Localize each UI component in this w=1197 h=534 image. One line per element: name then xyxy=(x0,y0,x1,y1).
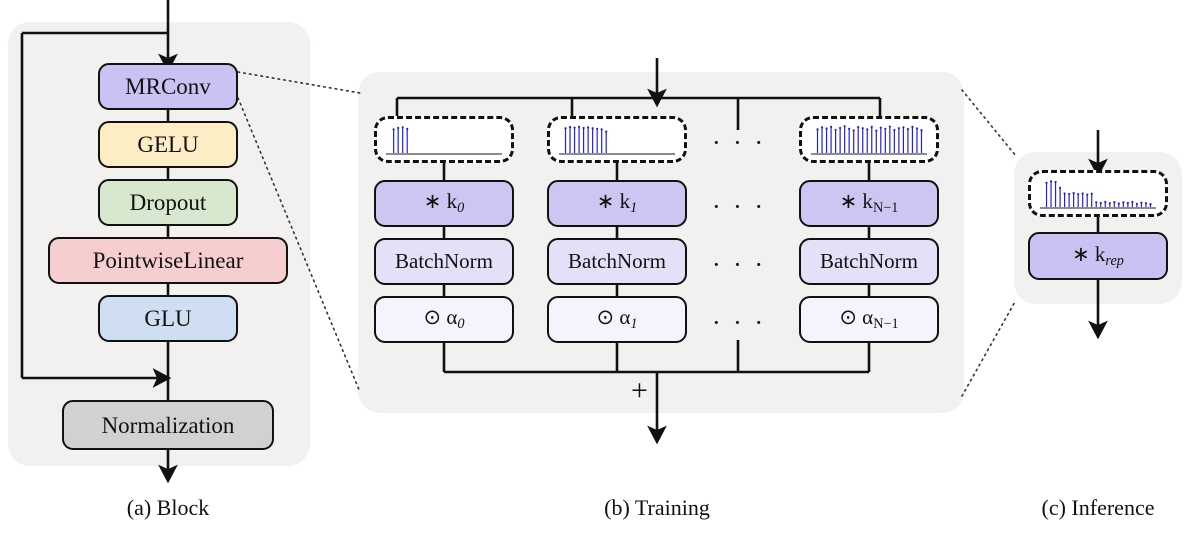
training-scale-branch-1[interactable]: ⊙ α1 xyxy=(547,296,687,343)
block-layer-normalization[interactable]: Normalization xyxy=(62,400,274,450)
training-batchnorm-label: BatchNorm xyxy=(820,251,918,272)
block-layer-label: PointwiseLinear xyxy=(93,249,244,272)
spectrum-plot-branch-1 xyxy=(555,123,679,157)
spectrum-plot-branch-0 xyxy=(382,123,506,157)
inference-kernel-label: ∗ krep xyxy=(1072,244,1124,268)
inference-kernel-rep[interactable]: ∗ krep xyxy=(1028,232,1168,280)
training-scale-branch-n-1[interactable]: ⊙ αN−1 xyxy=(799,296,939,343)
block-layer-glu[interactable]: GLU xyxy=(98,295,238,342)
sum-symbol: + xyxy=(631,376,648,406)
training-batchnorm-label: BatchNorm xyxy=(395,251,493,272)
spectrum-card-inference xyxy=(1028,170,1168,217)
ellipsis-scale-row: · · · xyxy=(712,310,766,336)
training-kernel-label: ∗ k0 xyxy=(424,191,465,215)
spectrum-card-branch-1 xyxy=(547,116,687,163)
training-batchnorm-branch-0[interactable]: BatchNorm xyxy=(374,238,514,285)
training-scale-branch-0[interactable]: ⊙ α0 xyxy=(374,296,514,343)
block-layer-mrconv[interactable]: MRConv xyxy=(98,63,238,110)
caption-block: (a) Block xyxy=(68,495,268,521)
block-layer-label: GLU xyxy=(144,307,191,330)
block-layer-pointwiselinear[interactable]: PointwiseLinear xyxy=(48,237,288,284)
training-kernel-branch-1[interactable]: ∗ k1 xyxy=(547,180,687,227)
training-kernel-label: ∗ k1 xyxy=(597,191,638,215)
spectrum-plot-branch-n-1 xyxy=(807,123,931,157)
training-kernel-label: ∗ kN−1 xyxy=(840,191,899,215)
spectrum-plot-inference xyxy=(1036,177,1160,211)
figure-root: MRConv GELU Dropout PointwiseLinear GLU … xyxy=(0,0,1197,534)
caption-inference: (c) Inference xyxy=(998,495,1197,521)
training-kernel-branch-0[interactable]: ∗ k0 xyxy=(374,180,514,227)
training-scale-label: ⊙ αN−1 xyxy=(839,307,898,331)
block-layer-label: GELU xyxy=(137,133,198,156)
ellipsis-kernel-row: · · · xyxy=(712,194,766,220)
spectrum-card-branch-0 xyxy=(374,116,514,163)
block-layer-gelu[interactable]: GELU xyxy=(98,121,238,168)
block-layer-dropout[interactable]: Dropout xyxy=(98,179,238,226)
training-batchnorm-branch-1[interactable]: BatchNorm xyxy=(547,238,687,285)
block-layer-label: Normalization xyxy=(102,414,235,437)
caption-training: (b) Training xyxy=(557,495,757,521)
training-scale-label: ⊙ α1 xyxy=(597,307,638,331)
training-batchnorm-branch-n-1[interactable]: BatchNorm xyxy=(799,238,939,285)
block-layer-label: Dropout xyxy=(130,191,207,214)
spectrum-card-branch-n-1 xyxy=(799,116,939,163)
block-layer-label: MRConv xyxy=(125,75,211,98)
ellipsis-spectrum-row: · · · xyxy=(712,130,766,156)
training-batchnorm-label: BatchNorm xyxy=(568,251,666,272)
ellipsis-batchnorm-row: · · · xyxy=(712,252,766,278)
training-scale-label: ⊙ α0 xyxy=(424,307,465,331)
training-kernel-branch-n-1[interactable]: ∗ kN−1 xyxy=(799,180,939,227)
